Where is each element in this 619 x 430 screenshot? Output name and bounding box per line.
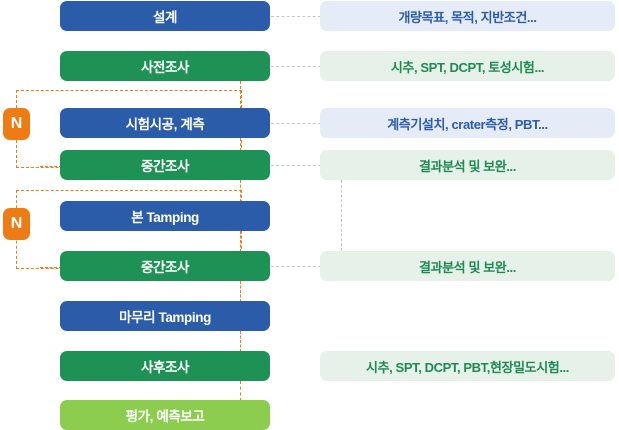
node-final-tamping[interactable]: 마무리 Tamping xyxy=(60,301,270,331)
node-evaluation-report[interactable]: 평가, 예측보고 xyxy=(60,400,270,430)
node-preliminary-survey-label: 사전조사 xyxy=(141,56,189,76)
node-evaluation-report-label: 평가, 예측보고 xyxy=(126,405,205,425)
node-interim-survey-2[interactable]: 중간조사 xyxy=(60,251,270,281)
note-preliminary-survey: 시추, SPT, DCPT, 토성시험... xyxy=(320,51,615,81)
note-preliminary-survey-label: 시추, SPT, DCPT, 토성시험... xyxy=(391,57,544,76)
connector-midsurvey-1 xyxy=(271,165,321,166)
note-interim-survey-1: 결과분석 및 보완... xyxy=(320,150,615,180)
node-post-survey-label: 사후조사 xyxy=(141,356,189,376)
note-test-construction: 계측기설치, crater측정, PBT... xyxy=(320,108,615,138)
connector-presurvey xyxy=(271,66,321,67)
loop-badge-n-2: N xyxy=(3,208,30,240)
note-test-construction-label: 계측기설치, crater측정, PBT... xyxy=(387,114,548,133)
flow-line-bottom-3 xyxy=(240,381,241,401)
loop-badge-n-2-label: N xyxy=(11,215,23,233)
note-post-survey: 시추, SPT, DCPT, PBT,현장밀도시험... xyxy=(320,351,615,381)
node-interim-survey-1[interactable]: 중간조사 xyxy=(60,150,270,180)
node-design[interactable]: 설계 xyxy=(60,1,270,31)
connector-note-vertical xyxy=(341,180,342,251)
node-preliminary-survey[interactable]: 사전조사 xyxy=(60,51,270,81)
feedback-loop-2-stub xyxy=(40,267,62,268)
connector-design xyxy=(271,16,321,17)
loop-badge-n-1-label: N xyxy=(11,115,23,133)
node-test-construction[interactable]: 시험시공, 계측 xyxy=(60,108,270,138)
note-post-survey-label: 시추, SPT, DCPT, PBT,현장밀도시험... xyxy=(366,357,569,376)
connector-testwork xyxy=(271,123,321,124)
node-final-tamping-label: 마무리 Tamping xyxy=(119,306,211,326)
node-post-survey[interactable]: 사후조사 xyxy=(60,351,270,381)
node-main-tamping-label: 본 Tamping xyxy=(131,206,199,226)
node-interim-survey-2-label: 중간조사 xyxy=(141,256,189,276)
note-interim-survey-1-label: 결과분석 및 보완... xyxy=(419,156,516,175)
note-interim-survey-2-label: 결과분석 및 보완... xyxy=(419,257,516,276)
flowchart-diagram: N N 설계 사전조사 시험시공, 계측 중간조사 본 Tamping 중간조사… xyxy=(0,0,619,430)
flow-line-bottom-2 xyxy=(240,331,241,352)
connector-midsurvey-2 xyxy=(271,266,321,267)
note-interim-survey-2: 결과분석 및 보완... xyxy=(320,251,615,281)
node-design-label: 설계 xyxy=(153,6,177,26)
note-design: 개량목표, 목적, 지반조건... xyxy=(320,1,615,31)
node-interim-survey-1-label: 중간조사 xyxy=(141,155,189,175)
note-design-label: 개량목표, 목적, 지반조건... xyxy=(398,7,536,26)
loop-badge-n-1: N xyxy=(3,108,30,140)
node-main-tamping[interactable]: 본 Tamping xyxy=(60,201,270,231)
feedback-loop-1-stub xyxy=(40,166,62,167)
flow-line-bottom-1 xyxy=(240,281,241,302)
node-test-construction-label: 시험시공, 계측 xyxy=(126,113,205,133)
